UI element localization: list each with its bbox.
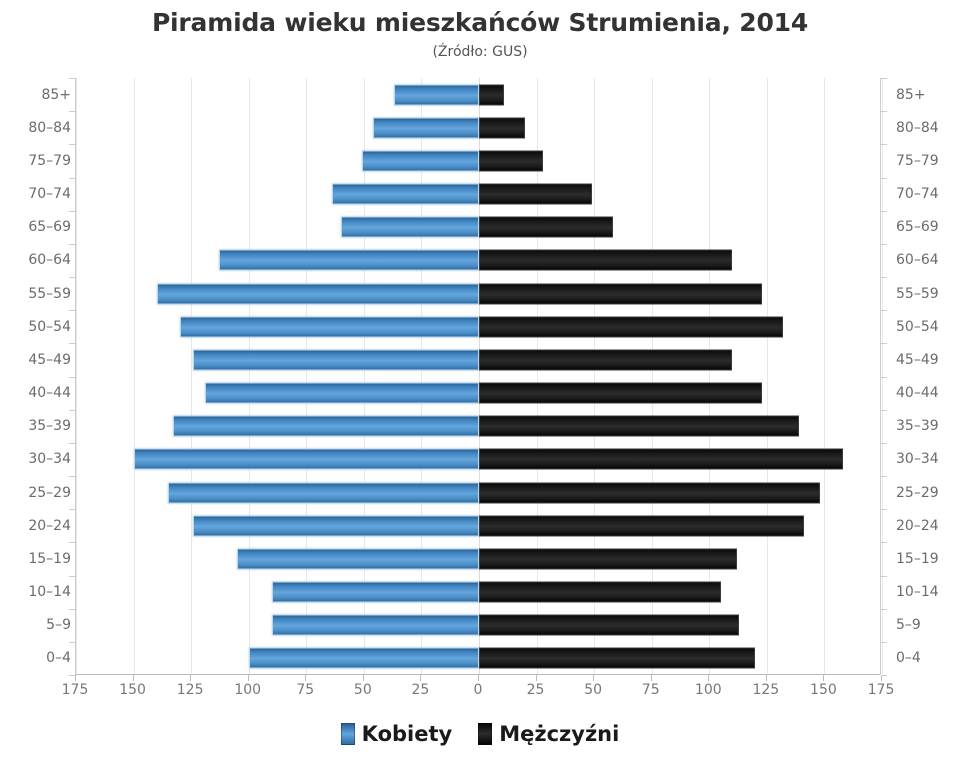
- pyramid-row: [76, 576, 880, 609]
- chart-subtitle: (Źródło: GUS): [0, 44, 960, 60]
- y-tick-mark-right: [881, 310, 887, 311]
- y-tick-mark-left: [69, 675, 75, 676]
- y-tick-mark-right: [881, 377, 887, 378]
- x-tick-label: 100: [218, 682, 278, 698]
- y-tick-mark-left: [69, 178, 75, 179]
- x-tick-mark: [363, 675, 364, 681]
- y-tick-mark-right: [881, 343, 887, 344]
- y-tick-mark-left: [69, 277, 75, 278]
- pyramid-row: [76, 343, 880, 376]
- bar-male: [479, 150, 543, 171]
- y-tick-mark-right: [881, 443, 887, 444]
- bar-male: [479, 316, 783, 337]
- x-tick-mark: [190, 675, 191, 681]
- bar-female: [205, 383, 479, 404]
- x-tick-mark: [651, 675, 652, 681]
- age-label-left: 10–14: [0, 585, 71, 599]
- y-tick-mark-left: [69, 211, 75, 212]
- bar-female: [272, 615, 479, 636]
- pyramid-row: [76, 310, 880, 343]
- age-label-right: 10–14: [896, 585, 960, 599]
- x-tick-mark: [248, 675, 249, 681]
- age-label-right: 40–44: [896, 386, 960, 400]
- y-tick-mark-left: [69, 410, 75, 411]
- pyramid-row: [76, 178, 880, 211]
- y-tick-mark-left: [69, 343, 75, 344]
- age-label-right: 85+: [896, 88, 960, 102]
- y-tick-mark-left: [69, 443, 75, 444]
- bar-male: [479, 283, 762, 304]
- x-tick-label: 150: [103, 682, 163, 698]
- x-tick-mark: [75, 675, 76, 681]
- y-tick-mark-right: [881, 410, 887, 411]
- age-label-left: 30–34: [0, 452, 71, 466]
- pyramid-row: [76, 277, 880, 310]
- age-label-right: 60–64: [896, 253, 960, 267]
- age-label-left: 5–9: [0, 618, 71, 632]
- pyramid-row: [76, 509, 880, 542]
- x-tick-mark: [305, 675, 306, 681]
- bar-female: [193, 515, 479, 536]
- bar-male: [479, 383, 762, 404]
- bar-female: [272, 582, 479, 603]
- x-tick-mark: [823, 675, 824, 681]
- bar-female: [157, 283, 479, 304]
- x-tick-label: 50: [563, 682, 623, 698]
- pyramid-row: [76, 78, 880, 111]
- x-tick-label: 50: [333, 682, 393, 698]
- age-label-left: 35–39: [0, 419, 71, 433]
- bar-male: [479, 117, 525, 138]
- chart-title: Piramida wieku mieszkańców Strumienia, 2…: [0, 8, 960, 37]
- age-label-left: 75–79: [0, 154, 71, 168]
- x-tick-label: 100: [678, 682, 738, 698]
- bar-male: [479, 217, 613, 238]
- y-tick-mark-right: [881, 509, 887, 510]
- plot-area: [75, 78, 881, 675]
- x-tick-mark: [593, 675, 594, 681]
- bar-female: [237, 548, 479, 569]
- x-tick-label: 25: [506, 682, 566, 698]
- x-tick-label: 75: [621, 682, 681, 698]
- legend-item-mezczyzni: Mężczyźni: [478, 722, 619, 746]
- bar-male: [479, 349, 732, 370]
- y-tick-mark-right: [881, 111, 887, 112]
- age-label-left: 65–69: [0, 220, 71, 234]
- bar-female: [341, 217, 479, 238]
- legend-label-kobiety: Kobiety: [362, 722, 453, 746]
- y-tick-mark-left: [69, 111, 75, 112]
- bar-male: [479, 648, 755, 669]
- y-tick-mark-right: [881, 642, 887, 643]
- y-tick-mark-right: [881, 244, 887, 245]
- age-label-left: 80–84: [0, 121, 71, 135]
- bar-female: [193, 349, 479, 370]
- y-tick-mark-right: [881, 178, 887, 179]
- age-label-right: 55–59: [896, 287, 960, 301]
- y-tick-mark-left: [69, 542, 75, 543]
- male-swatch-icon: [478, 723, 492, 745]
- x-tick-label: 0: [448, 682, 508, 698]
- legend-label-mezczyzni: Mężczyźni: [499, 722, 619, 746]
- y-tick-mark-right: [881, 144, 887, 145]
- age-label-left: 50–54: [0, 320, 71, 334]
- y-tick-mark-right: [881, 675, 887, 676]
- x-tick-label: 175: [851, 682, 911, 698]
- pyramid-row: [76, 609, 880, 642]
- y-tick-mark-left: [69, 78, 75, 79]
- age-label-left: 85+: [0, 88, 71, 102]
- x-tick-label: 25: [390, 682, 450, 698]
- y-tick-mark-right: [881, 211, 887, 212]
- y-tick-mark-left: [69, 244, 75, 245]
- age-label-right: 70–74: [896, 187, 960, 201]
- pyramid-row: [76, 542, 880, 575]
- bar-female: [168, 482, 479, 503]
- y-tick-mark-left: [69, 310, 75, 311]
- bar-female: [249, 648, 479, 669]
- x-tick-mark: [766, 675, 767, 681]
- bar-male: [479, 582, 721, 603]
- age-label-left: 45–49: [0, 353, 71, 367]
- age-label-right: 30–34: [896, 452, 960, 466]
- bar-male: [479, 184, 592, 205]
- bar-male: [479, 615, 739, 636]
- age-label-right: 25–29: [896, 486, 960, 500]
- age-label-left: 70–74: [0, 187, 71, 201]
- y-tick-mark-left: [69, 476, 75, 477]
- pyramid-row: [76, 111, 880, 144]
- y-tick-mark-left: [69, 642, 75, 643]
- age-label-right: 0–4: [896, 651, 960, 665]
- pyramid-row: [76, 476, 880, 509]
- pyramid-row: [76, 642, 880, 675]
- bar-female: [362, 150, 479, 171]
- y-tick-mark-right: [881, 78, 887, 79]
- x-tick-mark: [708, 675, 709, 681]
- bar-female: [394, 84, 479, 105]
- age-label-right: 15–19: [896, 552, 960, 566]
- x-tick-label: 175: [45, 682, 105, 698]
- bar-male: [479, 482, 820, 503]
- legend-item-kobiety: Kobiety: [341, 722, 453, 746]
- female-swatch-icon: [341, 723, 355, 745]
- age-label-left: 60–64: [0, 253, 71, 267]
- age-label-left: 0–4: [0, 651, 71, 665]
- x-tick-label: 125: [160, 682, 220, 698]
- age-label-right: 45–49: [896, 353, 960, 367]
- bar-female: [180, 316, 479, 337]
- y-tick-mark-right: [881, 476, 887, 477]
- pyramid-row: [76, 443, 880, 476]
- x-tick-mark: [536, 675, 537, 681]
- pyramid-row: [76, 244, 880, 277]
- bar-male: [479, 515, 804, 536]
- age-label-left: 55–59: [0, 287, 71, 301]
- pyramid-row: [76, 410, 880, 443]
- x-tick-mark: [478, 675, 479, 681]
- y-tick-mark-left: [69, 377, 75, 378]
- x-tick-label: 125: [736, 682, 796, 698]
- age-label-right: 35–39: [896, 419, 960, 433]
- y-tick-mark-right: [881, 542, 887, 543]
- age-label-right: 80–84: [896, 121, 960, 135]
- age-label-right: 20–24: [896, 519, 960, 533]
- bar-female: [373, 117, 479, 138]
- pyramid-row: [76, 144, 880, 177]
- pyramid-row: [76, 377, 880, 410]
- bar-female: [173, 416, 479, 437]
- x-tick-label: 75: [275, 682, 335, 698]
- bar-female: [134, 449, 479, 470]
- y-tick-mark-left: [69, 576, 75, 577]
- age-label-left: 40–44: [0, 386, 71, 400]
- x-tick-label: 150: [793, 682, 853, 698]
- bar-female: [332, 184, 479, 205]
- age-label-right: 75–79: [896, 154, 960, 168]
- y-tick-mark-right: [881, 609, 887, 610]
- y-tick-mark-left: [69, 509, 75, 510]
- x-tick-mark: [133, 675, 134, 681]
- y-tick-mark-left: [69, 144, 75, 145]
- population-pyramid-chart: Piramida wieku mieszkańców Strumienia, 2…: [0, 0, 960, 768]
- bar-female: [219, 250, 479, 271]
- age-label-right: 50–54: [896, 320, 960, 334]
- y-tick-mark-right: [881, 277, 887, 278]
- x-tick-mark: [420, 675, 421, 681]
- y-tick-mark-right: [881, 576, 887, 577]
- age-label-left: 20–24: [0, 519, 71, 533]
- age-label-right: 5–9: [896, 618, 960, 632]
- pyramid-row: [76, 211, 880, 244]
- bar-male: [479, 250, 732, 271]
- chart-legend: Kobiety Mężczyźni: [0, 722, 960, 746]
- age-label-left: 15–19: [0, 552, 71, 566]
- bar-male: [479, 548, 737, 569]
- bar-male: [479, 84, 504, 105]
- y-tick-mark-left: [69, 609, 75, 610]
- bar-male: [479, 416, 799, 437]
- age-label-left: 25–29: [0, 486, 71, 500]
- bar-male: [479, 449, 843, 470]
- age-label-right: 65–69: [896, 220, 960, 234]
